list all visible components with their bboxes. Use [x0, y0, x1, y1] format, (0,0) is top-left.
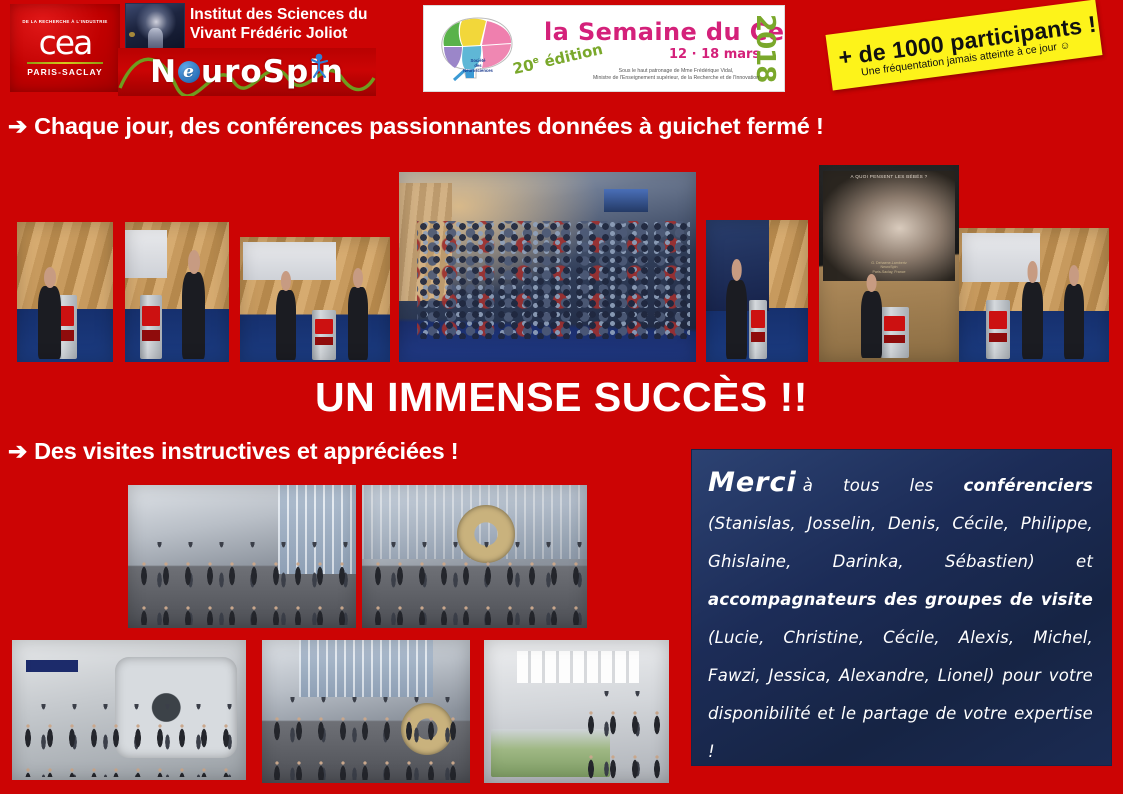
- poster-header: DE LA RECHERCHE À L'INDUSTRIE cea PARIS-…: [0, 0, 1123, 98]
- merci-body-3: (Lucie, Christine, Cécile, Alexis, Miche…: [708, 628, 1093, 761]
- brain-week-title: la Semaine du Cerveau: [544, 18, 785, 46]
- photo-conference-7: [959, 228, 1109, 362]
- cea-divider: [27, 62, 103, 65]
- headline-conferences-text: Chaque jour, des conférences passionnant…: [34, 113, 824, 139]
- photo-conference-2: [125, 222, 229, 362]
- merci-word: Merci: [708, 467, 803, 498]
- merci-body-1: à tous les: [803, 476, 964, 495]
- neurospin-letter-n: N: [150, 54, 177, 90]
- photo-conference-3: [240, 237, 390, 362]
- institute-title-line2: Vivant Frédéric Joliot: [190, 24, 440, 43]
- merci-accompagnateurs: accompagnateurs des groupes de visite: [708, 590, 1093, 609]
- merci-conferenciers: conférenciers: [964, 476, 1094, 495]
- photo-projected-slide: A QUOI PENSENT LES BÉBÉS ? G. Dehaene-La…: [819, 165, 959, 362]
- arrow-icon: ➔: [8, 113, 27, 139]
- photo-audience-full-auditorium: [399, 172, 696, 362]
- neurospin-wordmark: NeuroSpin: [118, 48, 376, 96]
- institute-title-line1: Institut des Sciences du: [190, 5, 440, 24]
- neurospin-mid: uroSp: [201, 54, 309, 90]
- brain-week-patronage: Sous le haut patronage de Mme Frédérique…: [576, 68, 776, 82]
- brain-week-banner: Société des Neurosciences la Semaine du …: [423, 5, 785, 92]
- merci-body-2: (Stanislas, Josselin, Denis, Cécile, Phi…: [708, 514, 1093, 571]
- cea-wordmark: cea: [39, 26, 92, 59]
- cea-site-label: PARIS-SACLAY: [27, 67, 103, 77]
- photo-visit-mri-room: [12, 640, 246, 780]
- headline-conferences: ➔Chaque jour, des conférences passionnan…: [8, 113, 824, 140]
- photo-conference-1: [17, 222, 113, 362]
- patronage-line2: Ministre de l'Enseignement supérieur, de…: [576, 75, 776, 82]
- cea-logo: DE LA RECHERCHE À L'INDUSTRIE cea PARIS-…: [10, 4, 120, 92]
- poster-canvas: DE LA RECHERCHE À L'INDUSTRIE cea PARIS-…: [0, 0, 1123, 794]
- headline-visits: ➔Des visites instructives et appréciées …: [8, 438, 458, 465]
- thank-you-panel: Mercià tous les conférenciers (Stanislas…: [691, 449, 1112, 766]
- photo-visit-exhibition: [484, 640, 669, 783]
- society-line3: Neurosciences: [436, 68, 520, 73]
- institute-title: Institut des Sciences du Vivant Frédéric…: [190, 5, 440, 43]
- neurospin-e-badge: e: [178, 61, 200, 83]
- brain-logo-icon: [432, 12, 524, 84]
- photo-conference-5: [706, 220, 808, 362]
- edition-suffix: e: [532, 55, 540, 66]
- spinning-person-icon: [308, 52, 330, 78]
- thank-you-text: Mercià tous les conférenciers (Stanislas…: [708, 464, 1093, 771]
- arrow-icon-2: ➔: [8, 438, 27, 464]
- page-title: UN IMMENSE SUCCÈS !!: [0, 374, 1123, 421]
- participants-sticker: + de 1000 participants ! Une fréquentati…: [826, 0, 1103, 91]
- patronage-line1: Sous le haut patronage de Mme Frédérique…: [576, 68, 776, 75]
- joliot-portrait-image: [125, 3, 185, 52]
- headline-visits-text: Des visites instructives et appréciées !: [34, 438, 458, 464]
- photo-visit-nave: [262, 640, 470, 783]
- neurospin-logo: NeuroSpin: [118, 48, 376, 96]
- photo-visit-hall-2: [362, 485, 587, 628]
- photo-visit-hall-1: [128, 485, 356, 628]
- society-logo-caption: Société des Neurosciences: [436, 58, 520, 73]
- brain-week-dates: 12 · 18 mars: [669, 47, 760, 62]
